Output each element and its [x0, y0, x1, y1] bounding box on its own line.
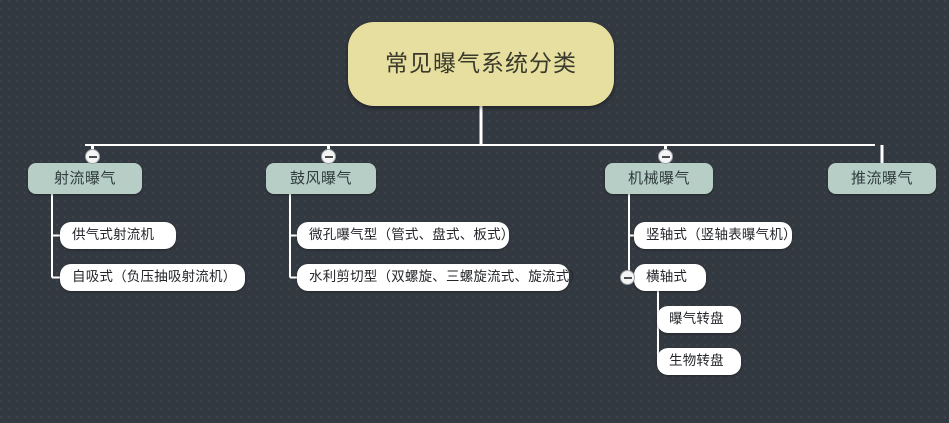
mindmap-node-曝气转盘[interactable]: 曝气转盘 [657, 306, 741, 333]
node-label: 曝气转盘 [669, 313, 724, 327]
mindmap-node-推流曝气[interactable]: 推流曝气 [828, 163, 936, 194]
mindmap-canvas: 常见曝气系统分类射流曝气供气式射流机自吸式（负压抽吸射流机）鼓风曝气微孔曝气型（… [0, 0, 949, 423]
node-label: 供气式射流机 [72, 229, 154, 243]
node-label: 微孔曝气型（管式、盘式、板式） [309, 229, 515, 243]
mindmap-node-机械曝气[interactable]: 机械曝气 [605, 163, 713, 194]
node-label: 机械曝气 [628, 171, 690, 186]
mindmap-node-自吸式负压抽吸射流机[interactable]: 自吸式（负压抽吸射流机） [60, 264, 245, 291]
mindmap-node-微孔曝气型管式盘式板式[interactable]: 微孔曝气型（管式、盘式、板式） [297, 222, 509, 249]
mindmap-node-鼓风曝气[interactable]: 鼓风曝气 [266, 163, 376, 194]
node-label: 推流曝气 [851, 171, 913, 186]
collapse-toggle-鼓风曝气[interactable] [321, 149, 336, 164]
node-label: 横轴式 [646, 271, 687, 285]
collapse-toggle-横轴式[interactable] [620, 270, 635, 285]
node-label: 竖轴式（竖轴表曝气机） [646, 229, 797, 243]
node-label: 射流曝气 [54, 171, 116, 186]
node-label: 生物转盘 [669, 355, 724, 369]
node-label: 鼓风曝气 [290, 171, 352, 186]
collapse-toggle-机械曝气[interactable] [658, 149, 673, 164]
mindmap-node-横轴式[interactable]: 横轴式 [634, 264, 706, 291]
node-label: 常见曝气系统分类 [385, 53, 577, 76]
node-label: 自吸式（负压抽吸射流机） [72, 271, 236, 285]
mindmap-node-供气式射流机[interactable]: 供气式射流机 [60, 222, 176, 249]
mindmap-node-常见曝气系统分类[interactable]: 常见曝气系统分类 [348, 22, 614, 106]
mindmap-node-射流曝气[interactable]: 射流曝气 [28, 163, 142, 194]
node-label: 水利剪切型（双螺旋、三螺旋流式、旋流式） [309, 271, 583, 285]
mindmap-node-竖轴式竖轴表曝气机[interactable]: 竖轴式（竖轴表曝气机） [634, 222, 792, 249]
mindmap-node-水利剪切型双螺旋三螺旋流[interactable]: 水利剪切型（双螺旋、三螺旋流式、旋流式） [297, 264, 569, 291]
mindmap-node-生物转盘[interactable]: 生物转盘 [657, 348, 741, 375]
collapse-toggle-射流曝气[interactable] [85, 149, 100, 164]
